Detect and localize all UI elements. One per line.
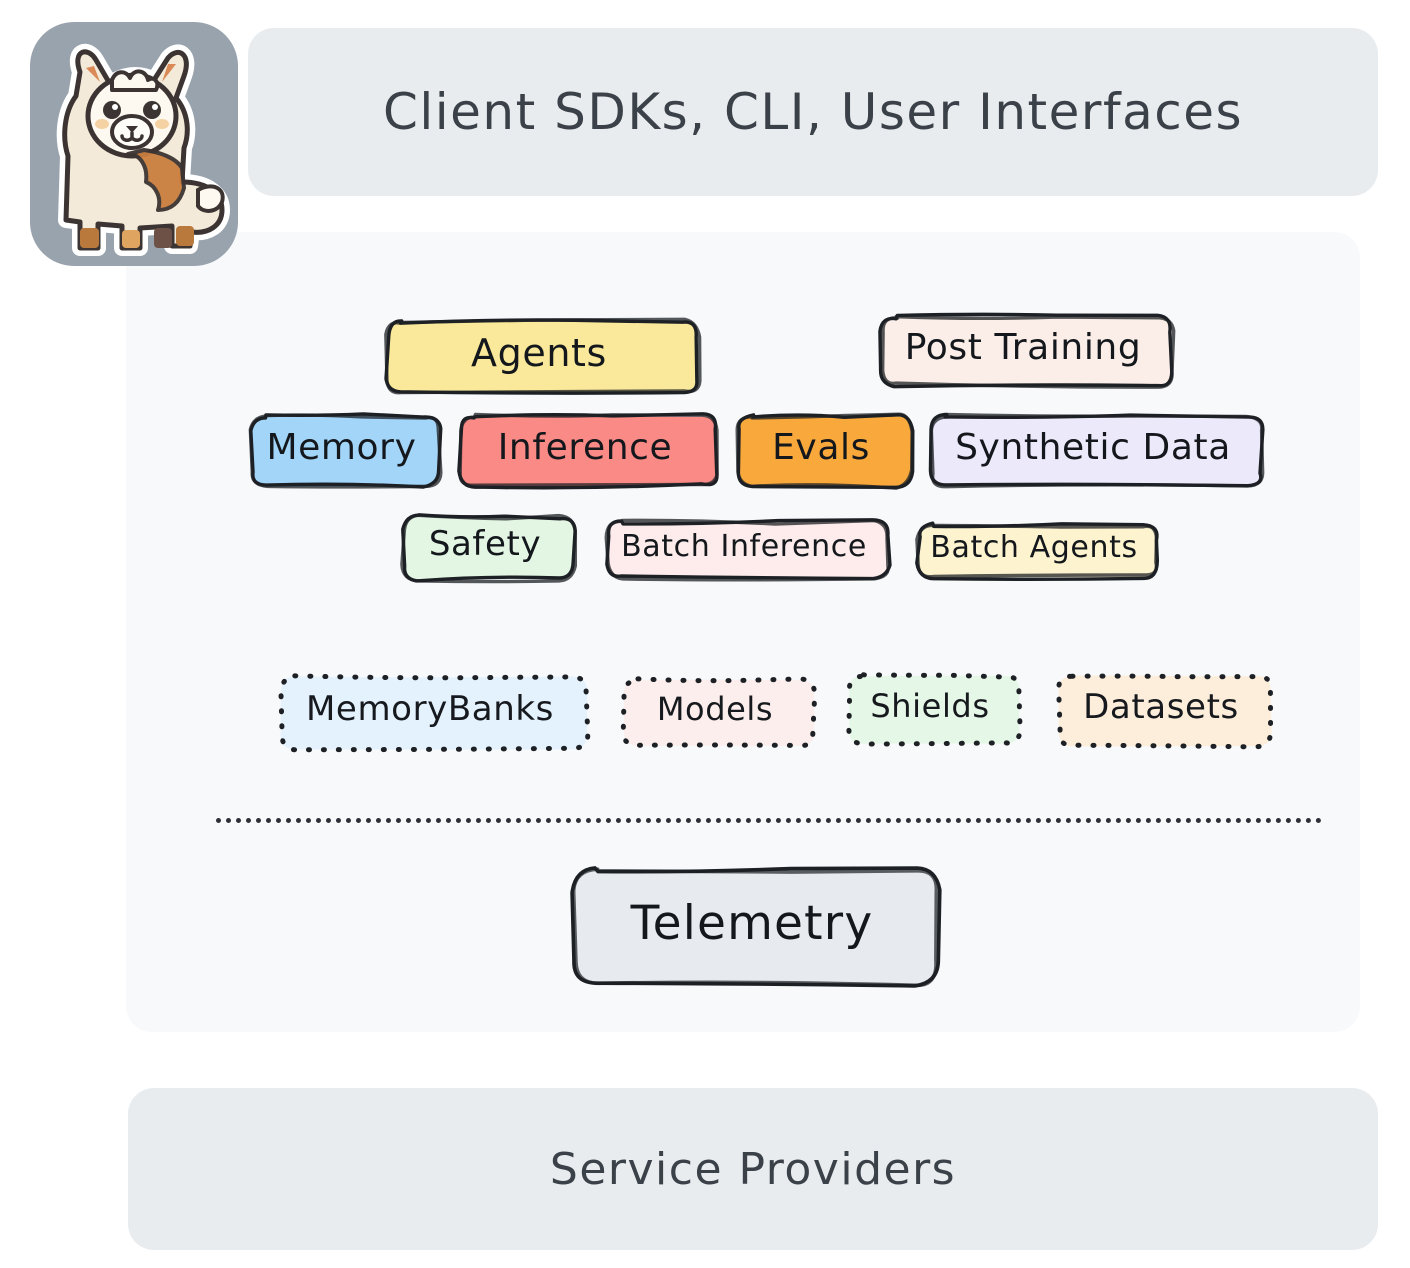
- client-layer-banner: Client SDKs, CLI, User Interfaces: [248, 28, 1378, 196]
- section-divider: [216, 818, 1322, 823]
- llama-logo-icon: [36, 36, 232, 260]
- resource-box-label: Models: [657, 690, 773, 728]
- resource-box-models[interactable]: Models: [620, 676, 810, 742]
- diagram-canvas: Client SDKs, CLI, User Interfaces: [0, 0, 1410, 1268]
- api-box-batch-agents[interactable]: Batch Agents: [914, 521, 1154, 573]
- resource-box-datasets[interactable]: Datasets: [1055, 672, 1267, 742]
- resource-box-label: MemoryBanks: [306, 689, 554, 729]
- api-box-agents[interactable]: Agents: [384, 317, 694, 389]
- telemetry-label: Telemetry: [631, 896, 874, 951]
- api-box-label: Synthetic Data: [955, 427, 1231, 468]
- api-box-label: Agents: [471, 331, 607, 375]
- resource-box-shields[interactable]: Shields: [845, 672, 1015, 740]
- api-box-label: Batch Agents: [930, 530, 1137, 565]
- api-box-label: Batch Inference: [621, 529, 867, 564]
- api-box-label: Post Training: [905, 327, 1142, 368]
- service-providers-banner: Service Providers: [128, 1088, 1378, 1250]
- api-box-evals[interactable]: Evals: [735, 412, 907, 482]
- api-box-label: Memory: [266, 427, 416, 468]
- resource-box-label: Shields: [870, 687, 989, 725]
- api-box-label: Evals: [772, 427, 870, 468]
- api-box-memory[interactable]: Memory: [248, 412, 435, 482]
- api-box-synthetic-data[interactable]: Synthetic Data: [928, 412, 1258, 482]
- api-box-batch-inference[interactable]: Batch Inference: [604, 518, 884, 574]
- api-box-label: Inference: [498, 427, 673, 468]
- api-box-inference[interactable]: Inference: [457, 412, 713, 482]
- resource-box-memorybanks[interactable]: MemoryBanks: [277, 673, 583, 745]
- resource-box-label: Datasets: [1083, 687, 1239, 727]
- api-box-label: Safety: [429, 524, 541, 564]
- api-box-post-training[interactable]: Post Training: [878, 313, 1168, 381]
- telemetry-box[interactable]: Telemetry: [570, 866, 934, 980]
- llama-logo-tile: [30, 22, 238, 266]
- client-layer-label: Client SDKs, CLI, User Interfaces: [383, 83, 1243, 141]
- service-providers-label: Service Providers: [550, 1144, 956, 1195]
- api-box-safety[interactable]: Safety: [400, 513, 570, 575]
